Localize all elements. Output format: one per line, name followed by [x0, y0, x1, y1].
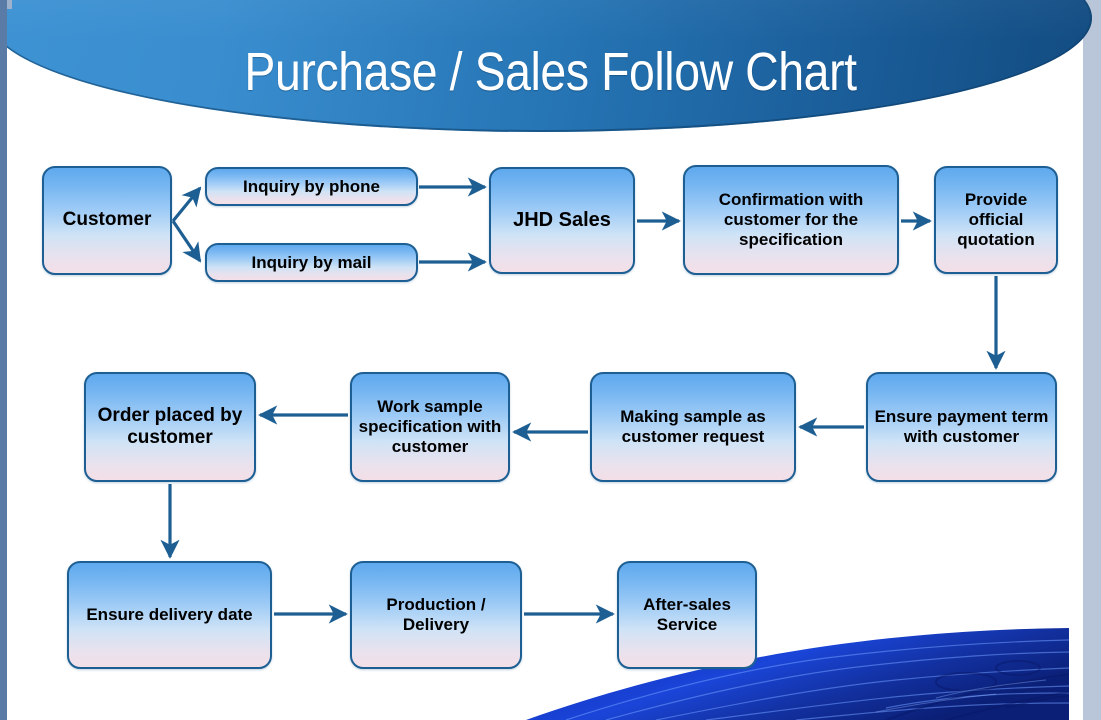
- flow-node-jhd-sales[interactable]: JHD Sales: [489, 167, 635, 274]
- flow-node-customer[interactable]: Customer: [42, 166, 172, 275]
- flow-node-confirmation[interactable]: Confirmation with customer for the speci…: [683, 165, 899, 275]
- flow-node-inquiry-by-phone[interactable]: Inquiry by phone: [205, 167, 418, 206]
- flow-node-after-sales-service[interactable]: After-sales Service: [617, 561, 757, 669]
- flow-node-work-sample-specification-label: Work sample specification with customer: [352, 397, 508, 456]
- flow-node-customer-label: Customer: [57, 209, 158, 231]
- flow-node-making-sample-label: Making sample as customer request: [592, 407, 794, 446]
- page-title: Purchase / Sales Follow Chart: [77, 41, 1024, 103]
- flow-node-inquiry-by-mail-label: Inquiry by mail: [246, 253, 378, 273]
- flow-node-work-sample-specification[interactable]: Work sample specification with customer: [350, 372, 510, 482]
- flow-node-ensure-payment-term-label: Ensure payment term with customer: [868, 407, 1055, 446]
- flow-node-production-delivery-label: Production / Delivery: [352, 595, 520, 634]
- flow-node-after-sales-service-label: After-sales Service: [619, 595, 755, 634]
- flow-node-inquiry-by-mail[interactable]: Inquiry by mail: [205, 243, 418, 282]
- flow-node-provide-quotation[interactable]: Provide official quotation: [934, 166, 1058, 274]
- flow-node-order-placed[interactable]: Order placed by customer: [84, 372, 256, 482]
- slide-left-stripe: [0, 0, 7, 720]
- flow-node-ensure-delivery-date-label: Ensure delivery date: [80, 605, 258, 625]
- flow-node-confirmation-label: Confirmation with customer for the speci…: [685, 190, 897, 249]
- flow-node-inquiry-by-phone-label: Inquiry by phone: [237, 177, 386, 197]
- flow-node-jhd-sales-label: JHD Sales: [507, 209, 617, 232]
- flow-node-provide-quotation-label: Provide official quotation: [936, 190, 1056, 249]
- slide-right-frame-edge: [1083, 0, 1101, 720]
- slide-right-white-band: [1069, 0, 1083, 720]
- flow-node-making-sample[interactable]: Making sample as customer request: [590, 372, 796, 482]
- flow-node-ensure-delivery-date[interactable]: Ensure delivery date: [67, 561, 272, 669]
- slide-left-stripe-accent: [7, 0, 12, 9]
- slide-canvas: Purchase / Sales Follow Chart: [0, 0, 1101, 720]
- flow-node-order-placed-label: Order placed by customer: [86, 405, 254, 449]
- flow-node-ensure-payment-term[interactable]: Ensure payment term with customer: [866, 372, 1057, 482]
- flow-node-production-delivery[interactable]: Production / Delivery: [350, 561, 522, 669]
